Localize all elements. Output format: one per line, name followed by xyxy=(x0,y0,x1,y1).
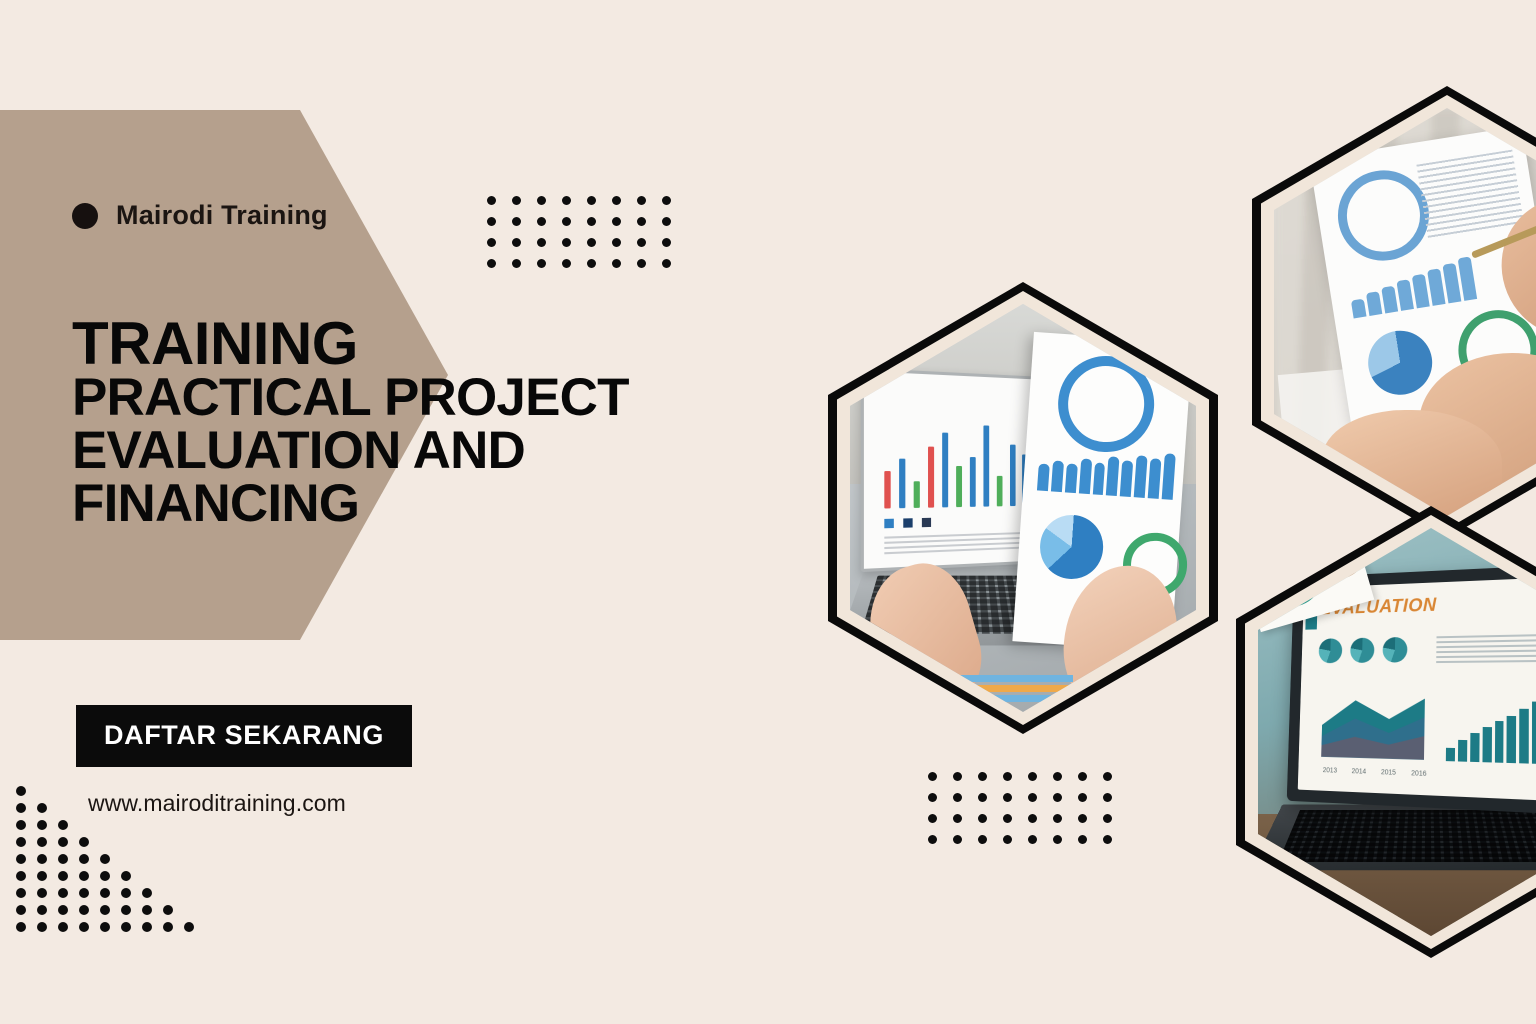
decor-dot xyxy=(16,820,26,830)
decor-dot xyxy=(16,837,26,847)
decor-dot xyxy=(16,905,26,915)
decor-dot xyxy=(1078,814,1087,823)
decor-dot xyxy=(37,854,47,864)
decor-dot xyxy=(637,259,646,268)
decor-dot xyxy=(100,888,110,898)
decor-dot xyxy=(184,922,194,932)
analyst-desk-photo xyxy=(828,282,1218,734)
decor-dot xyxy=(100,905,110,915)
decor-dot xyxy=(58,820,68,830)
decor-dot xyxy=(58,922,68,932)
decor-dot xyxy=(1003,772,1012,781)
decor-dot xyxy=(37,922,47,932)
decor-dot xyxy=(121,922,131,932)
decor-dot xyxy=(928,793,937,802)
area-chart xyxy=(1320,689,1424,760)
decor-dot xyxy=(1103,835,1112,844)
decor-dot xyxy=(1078,793,1087,802)
decor-dot xyxy=(587,196,596,205)
decor-dot xyxy=(512,259,521,268)
paragraph-block xyxy=(1436,634,1536,666)
dot-grid-top xyxy=(487,196,687,280)
decor-dot xyxy=(79,888,89,898)
report-bar-chart xyxy=(1037,441,1175,500)
decor-dot xyxy=(142,922,152,932)
decor-dot xyxy=(587,238,596,247)
decor-dot xyxy=(163,905,173,915)
decor-dot xyxy=(1028,772,1037,781)
decor-dot xyxy=(928,814,937,823)
decor-dot xyxy=(79,854,89,864)
decor-dot xyxy=(16,803,26,813)
decor-dot xyxy=(487,196,496,205)
register-button[interactable]: DAFTAR SEKARANG xyxy=(76,705,412,767)
decor-dot xyxy=(79,922,89,932)
decor-dot xyxy=(637,238,646,247)
decor-dot xyxy=(562,196,571,205)
poster-canvas: Mairodi Training TRAINING PRACTICAL PROJ… xyxy=(0,0,1536,1024)
decor-dot xyxy=(37,888,47,898)
decor-dot xyxy=(612,196,621,205)
decor-dot xyxy=(637,196,646,205)
decor-dot xyxy=(100,854,110,864)
decor-dot xyxy=(1003,814,1012,823)
bar-chart xyxy=(1347,254,1477,319)
decor-dot xyxy=(512,238,521,247)
decor-dot xyxy=(79,837,89,847)
decor-dot xyxy=(100,922,110,932)
dot-triangle-row xyxy=(16,888,205,905)
decor-dot xyxy=(37,871,47,881)
data-table-block xyxy=(1417,149,1524,239)
decor-dot xyxy=(58,905,68,915)
decor-dot xyxy=(1103,793,1112,802)
decor-dot xyxy=(58,837,68,847)
chart-legend xyxy=(885,518,932,528)
decor-dot xyxy=(953,772,962,781)
decor-dot xyxy=(79,905,89,915)
decor-dot xyxy=(537,196,546,205)
year-axis-labels: 2013 2014 2015 2016 xyxy=(1322,767,1426,778)
pie-chart xyxy=(1364,326,1438,400)
decor-dot xyxy=(16,786,26,796)
decor-dot xyxy=(37,905,47,915)
dot-triangle-row xyxy=(16,854,205,871)
decor-dot xyxy=(928,835,937,844)
report-review-photo xyxy=(1252,86,1536,538)
decor-dot xyxy=(37,837,47,847)
bullet-dot-icon xyxy=(72,203,98,229)
decor-dot xyxy=(587,217,596,226)
decor-dot xyxy=(512,217,521,226)
decor-dot xyxy=(512,196,521,205)
decor-dot xyxy=(612,217,621,226)
decor-dot xyxy=(163,922,173,932)
dot-grid-middle xyxy=(928,772,1128,856)
laptop-bar-chart xyxy=(885,419,1041,509)
decor-dot xyxy=(562,238,571,247)
decor-dot xyxy=(100,871,110,881)
decor-dot xyxy=(978,835,987,844)
decor-dot xyxy=(16,854,26,864)
decor-dot xyxy=(953,814,962,823)
decor-dot xyxy=(121,871,131,881)
decor-dot xyxy=(37,803,47,813)
decor-dot xyxy=(58,888,68,898)
decor-dot xyxy=(978,814,987,823)
decor-dot xyxy=(587,259,596,268)
decor-dot xyxy=(953,793,962,802)
decor-dot xyxy=(662,217,671,226)
decor-dot xyxy=(562,217,571,226)
decor-dot xyxy=(612,238,621,247)
decor-dot xyxy=(562,259,571,268)
decor-dot xyxy=(537,238,546,247)
decor-dot xyxy=(16,871,26,881)
decor-dot xyxy=(612,259,621,268)
year-label: 2016 xyxy=(1411,770,1426,778)
decor-dot xyxy=(1103,814,1112,823)
decor-dot xyxy=(16,888,26,898)
decor-dot xyxy=(121,888,131,898)
decor-dot xyxy=(1053,835,1062,844)
decor-dot xyxy=(1053,814,1062,823)
decor-dot xyxy=(637,217,646,226)
decor-dot xyxy=(79,871,89,881)
decor-dot xyxy=(1078,772,1087,781)
year-label: 2015 xyxy=(1381,769,1396,777)
headline-line-2: PRACTICAL PROJECT xyxy=(72,371,629,424)
decor-dot xyxy=(1053,772,1062,781)
decor-dot xyxy=(1103,772,1112,781)
screen-text-block xyxy=(885,532,1034,554)
decor-dot xyxy=(142,888,152,898)
decor-dot xyxy=(487,238,496,247)
decor-dot xyxy=(537,217,546,226)
dot-triangle-row xyxy=(16,837,205,854)
decor-dot xyxy=(1028,814,1037,823)
decor-dot xyxy=(662,259,671,268)
decor-dot xyxy=(1078,835,1087,844)
website-url[interactable]: www.mairoditraining.com xyxy=(88,790,346,817)
dot-triangle-row xyxy=(16,820,205,837)
year-label: 2013 xyxy=(1322,767,1336,774)
decor-dot xyxy=(1053,793,1062,802)
pie-chart xyxy=(1038,512,1106,580)
growth-bar-chart xyxy=(1446,689,1536,764)
decor-dot xyxy=(662,196,671,205)
decor-dot xyxy=(487,259,496,268)
decor-dot xyxy=(928,772,937,781)
brand-lockup: Mairodi Training xyxy=(72,200,328,231)
decor-dot xyxy=(537,259,546,268)
decor-dot xyxy=(978,772,987,781)
page-title: TRAINING PRACTICAL PROJECT EVALUATION AN… xyxy=(72,316,629,530)
decor-dot xyxy=(662,238,671,247)
pie-chart-row xyxy=(1318,637,1407,663)
headline-line-3: EVALUATION AND xyxy=(72,424,629,477)
decor-dot xyxy=(953,835,962,844)
evaluation-dashboard-photo: EVALUATION xyxy=(1236,506,1536,958)
headline-line-4: FINANCING xyxy=(72,477,629,530)
decor-dot xyxy=(121,905,131,915)
decor-dot xyxy=(1028,835,1037,844)
decor-dot xyxy=(978,793,987,802)
decor-dot xyxy=(58,854,68,864)
decor-dot xyxy=(37,820,47,830)
dot-triangle-row xyxy=(16,922,205,939)
decor-dot xyxy=(1003,793,1012,802)
decor-dot xyxy=(142,905,152,915)
decor-dot xyxy=(16,922,26,932)
dot-triangle-row xyxy=(16,871,205,888)
year-label: 2014 xyxy=(1351,768,1366,775)
decor-dot xyxy=(1003,835,1012,844)
headline-line-1: TRAINING xyxy=(72,316,629,371)
brand-name: Mairodi Training xyxy=(116,200,328,231)
decor-dot xyxy=(58,871,68,881)
decor-dot xyxy=(487,217,496,226)
dot-triangle-row xyxy=(16,905,205,922)
decor-dot xyxy=(1028,793,1037,802)
